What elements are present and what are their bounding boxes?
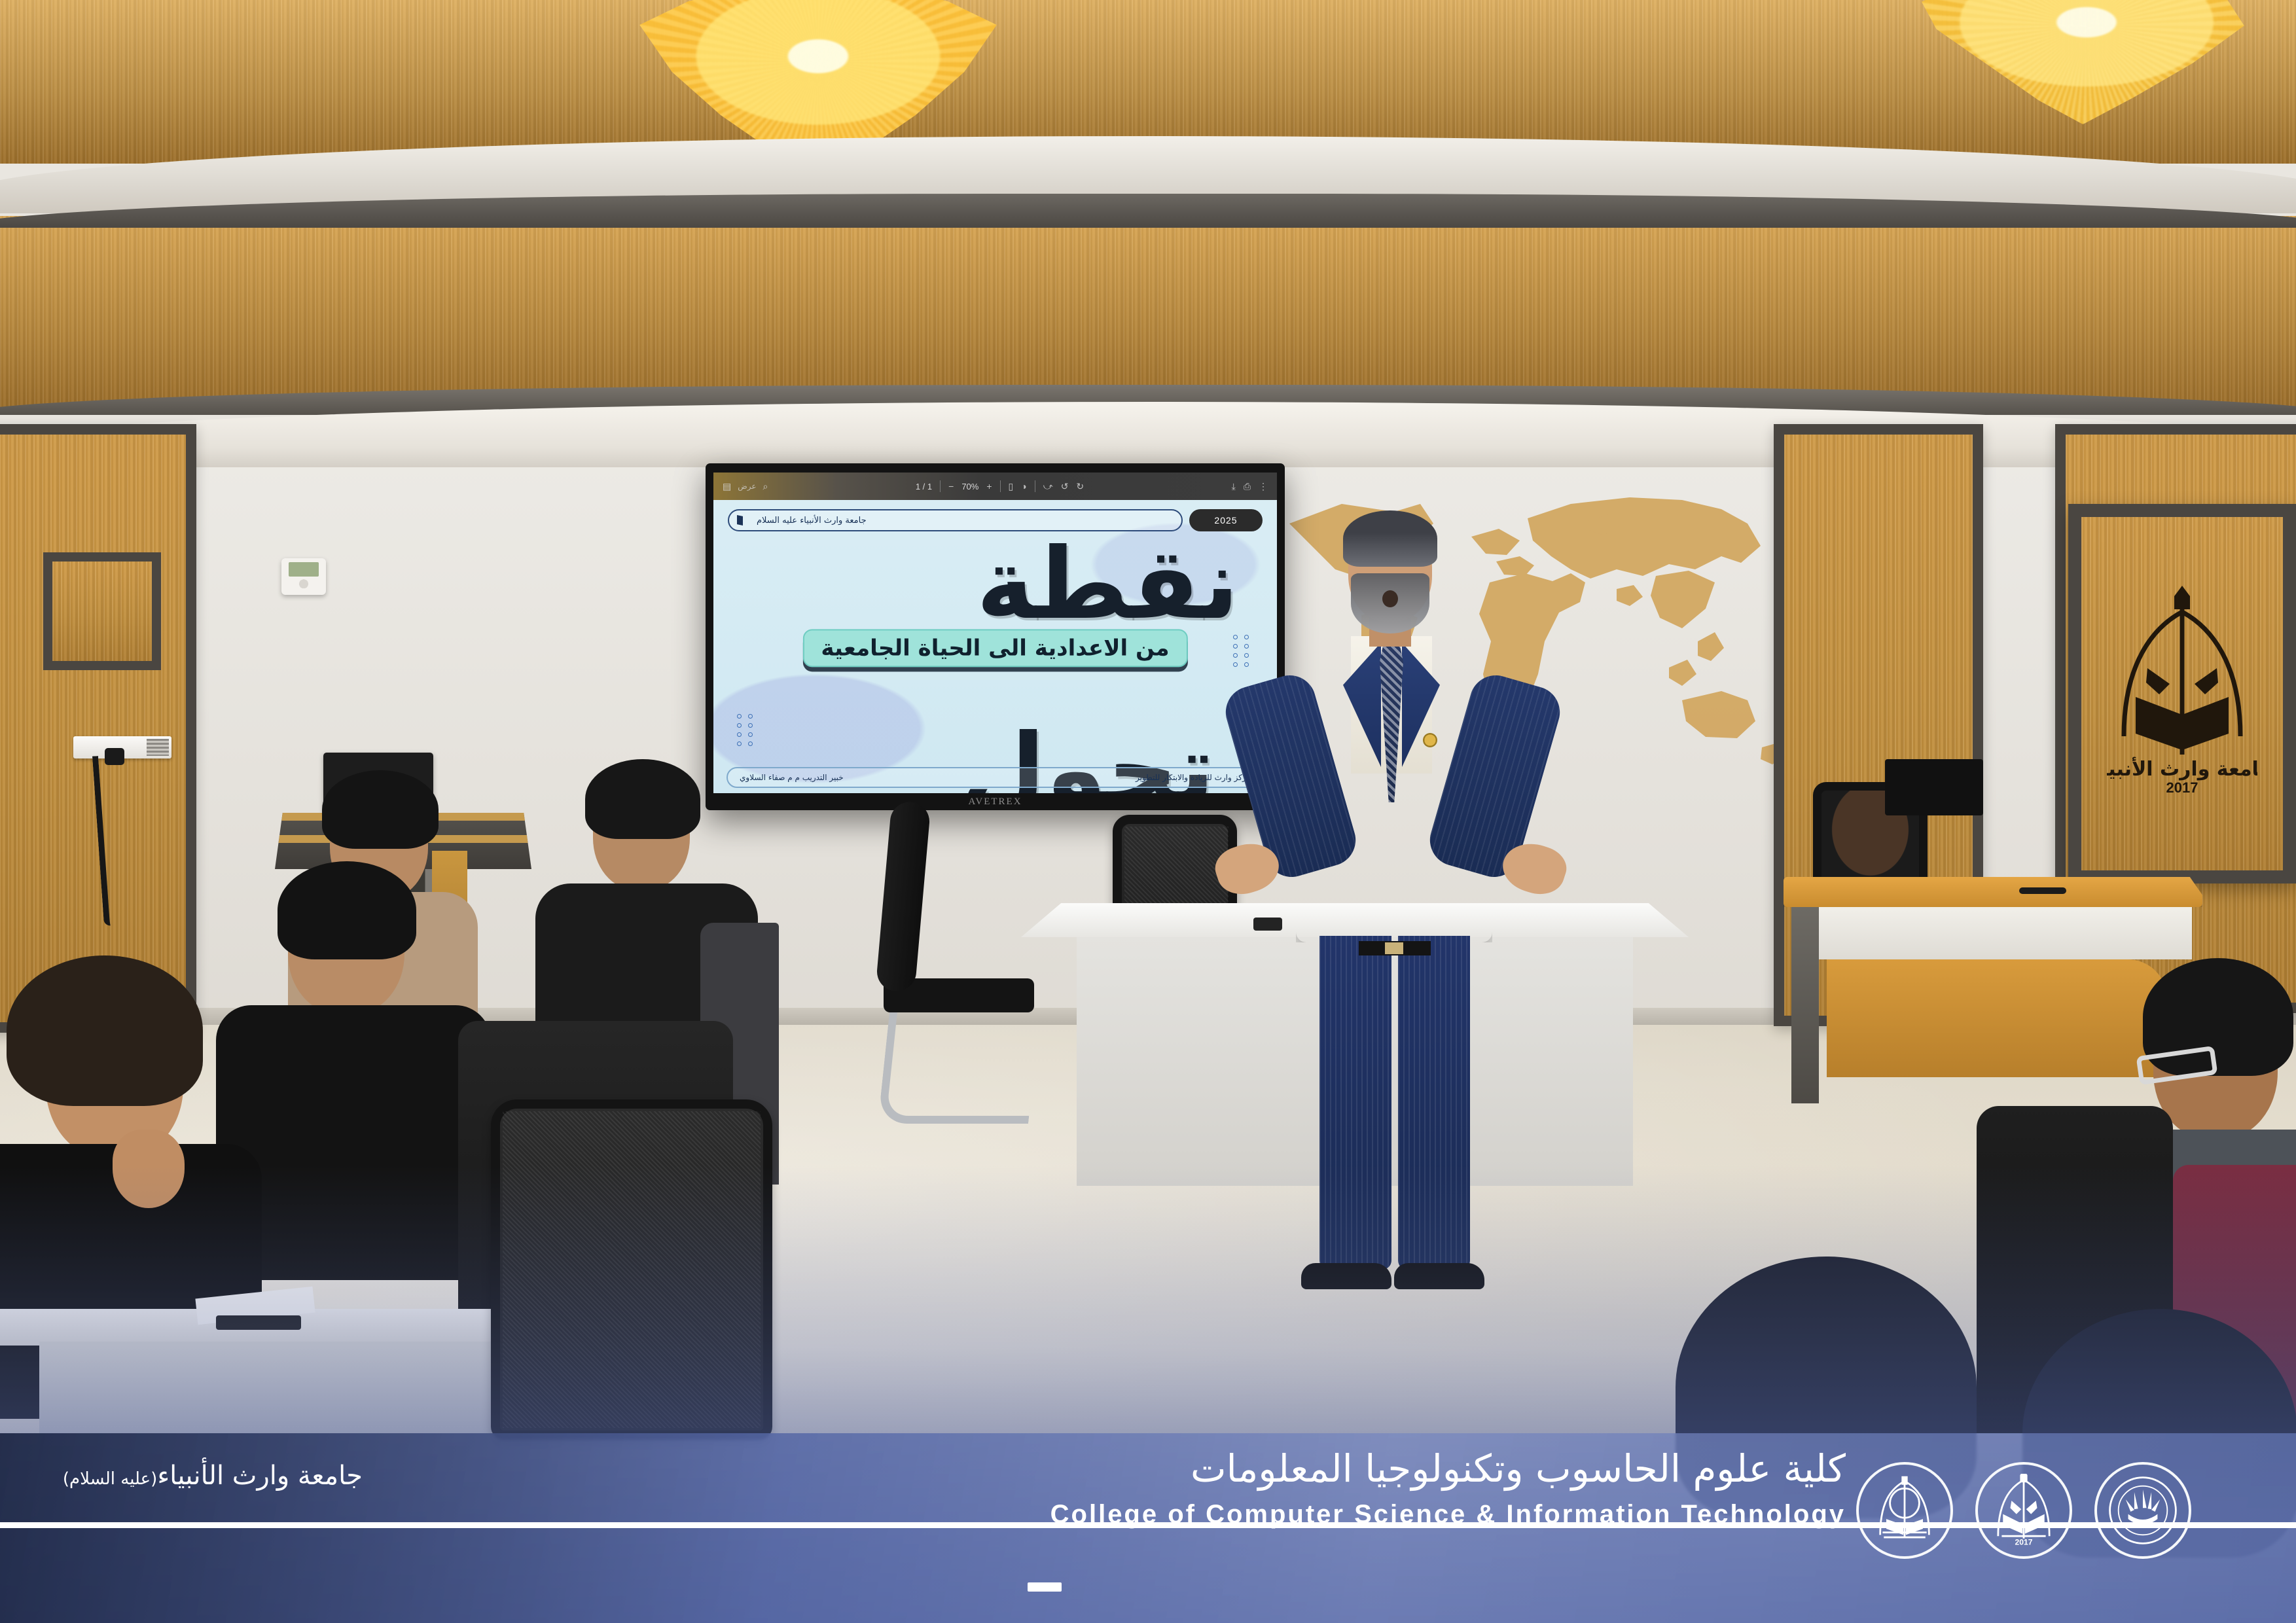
chair-backrest: [875, 800, 931, 993]
banner-college-block: كلية علوم الحاسوب وتكنولوجيا المعلومات C…: [1073, 1446, 1846, 1529]
slide-subtitle: من الاعدادية الى الحياة الجامعية: [802, 629, 1187, 667]
university-emblem-icon: جامعة وارث الأنبياء 2017: [2107, 586, 2257, 802]
desk-apron: [1799, 907, 2192, 959]
slide-footer-right: خبير التدريب م م صفاء السلاوي: [740, 773, 844, 782]
banner-logos: 2017: [1856, 1462, 2191, 1559]
university-seal-logo: 2017: [1975, 1462, 2072, 1559]
banner-dash: [1028, 1582, 1062, 1592]
zoom-in-button[interactable]: +: [986, 481, 992, 491]
banner-university-ar: جامعة وارث الأنبياء: [157, 1461, 363, 1491]
ministry-of-higher-education-logo: [2094, 1462, 2191, 1559]
presenter-right-shoe: [1394, 1263, 1484, 1289]
ministry-seal-icon: [2106, 1474, 2179, 1547]
presenter-left-shoe: [1301, 1263, 1391, 1289]
chair-backrest: [491, 1099, 772, 1440]
presenter-hair: [1343, 510, 1437, 567]
university-seal-icon: 2017: [1987, 1474, 2060, 1547]
print-icon[interactable]: ⎙: [1244, 481, 1251, 492]
banner-college-ar: كلية علوم الحاسوب وتكنولوجيا المعلومات: [1191, 1446, 1846, 1491]
banner-university-left: جامعة وارث الأنبياء(عليه السلام): [22, 1461, 363, 1491]
college-seal-logo: [1856, 1462, 1953, 1559]
undo-icon[interactable]: ↺: [1061, 481, 1069, 492]
page-width-icon[interactable]: ◑: [1021, 481, 1026, 491]
slide-footer-left: مركز وارث للريادة والابتكار للتطوير: [1136, 773, 1251, 782]
banner-college-en: College of Computer Science & Informatio…: [1050, 1500, 1846, 1529]
zoom-level: 70%: [961, 482, 978, 491]
wall-wood-pilaster-left: [0, 424, 196, 1033]
emblem-arabic-text: جامعة وارث الأنبياء: [2107, 757, 2257, 781]
chair-sled-legs: [878, 1012, 1040, 1124]
socket-vent: [147, 739, 169, 756]
thermostat-display: [289, 562, 319, 577]
document-name: عرض: [738, 482, 756, 491]
presenter-lapel-pin: [1423, 733, 1437, 747]
more-icon[interactable]: ⋮: [1259, 481, 1268, 492]
office-chair-front-left[interactable]: [491, 1099, 772, 1440]
chandelier-right: [1885, 0, 2251, 124]
slide-content: جامعة وارث الأنبياء عليه السلام 2025 نقط…: [713, 500, 1277, 793]
sidebar-icon[interactable]: ▤: [723, 481, 731, 492]
emblem-year: 2017: [2166, 779, 2198, 796]
wall-mounted-monitor: [1885, 759, 1983, 815]
search-icon[interactable]: ⌕: [763, 481, 768, 492]
presenter-right-leg: [1398, 936, 1470, 1270]
book-icon: [737, 515, 750, 526]
pdf-viewer-toolbar[interactable]: ▤ عرض ⌕ 1 / 1 − 70% + ▯ ◑ ⤻ ↺ ↻: [713, 473, 1277, 500]
banner-university-ar-suffix: (عليه السلام): [63, 1469, 157, 1489]
thermostat-keys[interactable]: [287, 579, 320, 590]
phone-on-desk[interactable]: [216, 1315, 301, 1330]
slide-footer: مركز وارث للريادة والابتكار للتطوير خبير…: [726, 767, 1264, 788]
wall-plaque-university-emblem: جامعة وارث الأنبياء 2017: [2068, 504, 2296, 883]
desk-top: [1784, 877, 2202, 907]
presenter-left-leg: [1319, 936, 1391, 1270]
seal-year: 2017: [2015, 1537, 2033, 1546]
pen-on-desk[interactable]: [2019, 887, 2066, 894]
presenter-belt-buckle: [1385, 942, 1403, 954]
redo-icon[interactable]: ↻: [1076, 481, 1084, 492]
wall-panel-inset: [43, 552, 161, 670]
power-plug: [105, 748, 124, 765]
photo-scene: جامعة وارث الأنبياء 2017 ▤ عرض ⌕ 1 / 1 −…: [0, 0, 2296, 1623]
zoom-out-button[interactable]: −: [948, 481, 954, 491]
presenter-mouth: [1382, 590, 1398, 607]
desk-front-panel: [1827, 959, 2167, 1077]
slide-org-name: جامعة وارث الأنبياء عليه السلام: [757, 516, 867, 526]
rotate-icon[interactable]: ⤻: [1043, 481, 1053, 492]
college-seal-icon: [1868, 1474, 1941, 1547]
remote-control[interactable]: [1253, 918, 1282, 931]
page-indicator: 1 / 1: [916, 482, 932, 491]
page-fit-icon[interactable]: ▯: [1009, 481, 1014, 492]
screen-surface: ▤ عرض ⌕ 1 / 1 − 70% + ▯ ◑ ⤻ ↺ ↻: [713, 473, 1277, 793]
upper-wall-wood-panel: [0, 216, 2296, 412]
bottom-banner: جامعة وارث الأنبياء(عليه السلام) كلية عل…: [0, 1433, 2296, 1623]
dot-decoration-right: [1233, 635, 1251, 667]
desk-leg-left: [1791, 907, 1819, 1103]
visitor-chair-left[interactable]: [884, 802, 1034, 1124]
power-socket[interactable]: [73, 736, 171, 758]
wood-executive-desk: [1784, 877, 2202, 1077]
download-icon[interactable]: ⤓: [1232, 481, 1236, 492]
dot-decoration-left: [737, 714, 755, 746]
presentation-display[interactable]: ▤ عرض ⌕ 1 / 1 − 70% + ▯ ◑ ⤻ ↺ ↻: [706, 463, 1285, 810]
wall-thermostat[interactable]: [281, 558, 326, 595]
slide-title-line1: نقطة: [977, 538, 1239, 632]
